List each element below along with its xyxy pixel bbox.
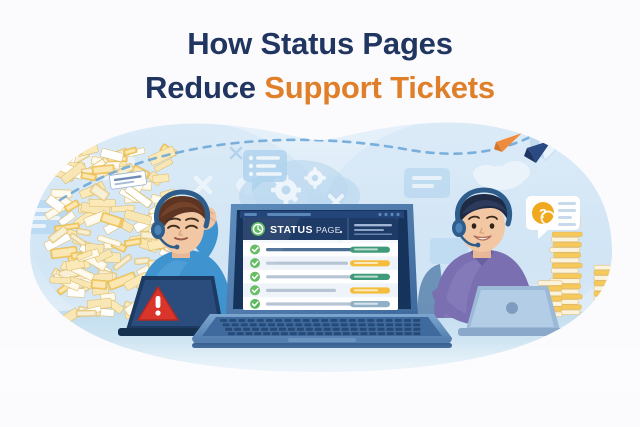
status-row[interactable] [243,284,398,297]
ticket-paper [76,310,96,317]
stacked-ticket [538,281,562,286]
service-name-bar [266,302,352,305]
stacked-ticket [553,274,581,279]
panel-decoration [404,168,450,198]
bottom-fade [0,340,640,427]
stacked-ticket [553,242,581,247]
stacked-ticket [551,268,578,273]
stacked-ticket [551,237,578,242]
service-name-bar [266,289,336,292]
ticket-paper [153,174,170,183]
status-page-laptop: STATUS PAGE [192,204,452,348]
stacked-ticket [552,263,582,268]
stacked-ticket [552,232,582,237]
service-name-bar [266,262,348,265]
stacked-ticket [554,253,581,258]
poster-canvas: ? [0,0,640,427]
ticket-paper [50,277,71,284]
status-row[interactable] [243,297,398,310]
stacked-ticket [551,258,579,263]
illustration-scene: ? [0,0,640,427]
stacked-ticket [550,248,580,253]
service-name-bar [266,275,356,278]
ticket-paper [51,189,72,197]
status-page-brand-light: PAGE [316,225,341,235]
ticket-paper [134,257,150,264]
ticket-paper [91,279,108,289]
